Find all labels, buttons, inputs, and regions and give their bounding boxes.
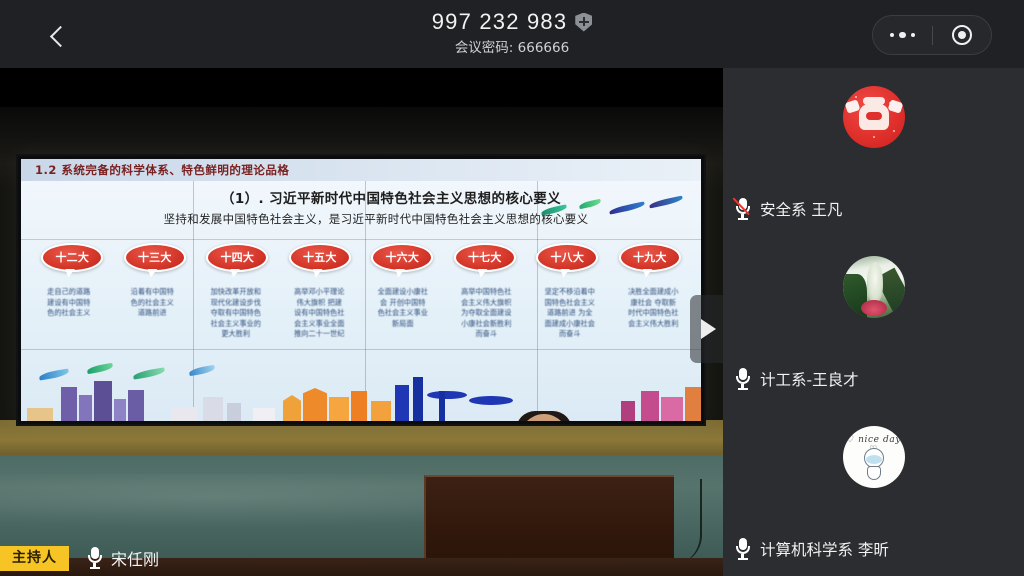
host-name-text: 宋任刚 xyxy=(111,546,159,570)
congress-badge: 十四大 xyxy=(206,243,268,272)
lectern-podium xyxy=(424,475,674,565)
participant-tile[interactable]: ♡ nice day ♡ 计算机科学系 李昕 xyxy=(723,408,1024,576)
participant-tile[interactable]: 计工系-王良才 xyxy=(723,238,1024,408)
slide-section-header-text: 1.2 系统完备的科学体系、特色鲜明的理论品格 xyxy=(21,162,289,178)
projection-screen: 1.2 系统完备的科学体系、特色鲜明的理论品格 （1）. 习近平新时代中国特色社… xyxy=(16,154,706,426)
congress-badge: 十七大 xyxy=(454,243,516,272)
congress-badge: 十三大 xyxy=(124,243,186,272)
miniprogram-capsule xyxy=(872,15,992,55)
meeting-app-root: 997 232 983 会议密码: 666666 xyxy=(0,0,1024,576)
congress-badge-label: 十八大 xyxy=(550,249,584,265)
decorative-birds xyxy=(537,193,687,223)
shield-plus-icon xyxy=(575,13,592,32)
participant-name: 安全系 王凡 xyxy=(760,198,842,220)
congress-badge-label: 十七大 xyxy=(468,249,502,265)
chevron-left-icon xyxy=(50,25,71,46)
congress-caption-row: 走自己的道路建设有中国特色的社会主义 沿着有中国特色的社会主义道路前进 加快改革… xyxy=(21,287,701,349)
participant-name: 计算机科学系 李昕 xyxy=(760,538,889,560)
congress-badge: 十八大 xyxy=(536,243,598,272)
mic-muted-icon xyxy=(735,198,750,220)
target-circle-icon xyxy=(952,25,972,45)
wave-decorations xyxy=(21,361,701,387)
nice-day-avatar: ♡ nice day ♡ xyxy=(843,426,905,488)
red-mascot-avatar xyxy=(843,86,905,148)
congress-caption: 决胜全面建成小康社会 夺取新时代中国特色社会主义伟大胜利 xyxy=(612,287,696,349)
classroom-video-frame: 1.2 系统完备的科学体系、特色鲜明的理论品格 （1）. 习近平新时代中国特色社… xyxy=(0,107,723,576)
main-video-stage[interactable]: 1.2 系统完备的科学体系、特色鲜明的理论品格 （1）. 习近平新时代中国特色社… xyxy=(0,68,723,576)
meeting-title-block: 997 232 983 会议密码: 666666 xyxy=(0,8,1024,57)
play-triangle-icon xyxy=(701,319,716,339)
congress-caption: 高举中国特色社会主义伟大旗帜为夺取全面建设小康社会新胜利而奋斗 xyxy=(445,287,529,349)
participant-label: 安全系 王凡 xyxy=(735,198,842,220)
congress-badge-label: 十六大 xyxy=(385,249,419,265)
congress-badge-label: 十二大 xyxy=(55,249,89,265)
host-label-bar: 主持人 宋任刚 xyxy=(0,540,159,576)
host-badge: 主持人 xyxy=(0,546,69,571)
nature-photo-avatar xyxy=(843,256,905,318)
congress-badge: 十六大 xyxy=(371,243,433,272)
congress-badge-label: 十九大 xyxy=(633,249,667,265)
participant-label: 计工系-王良才 xyxy=(735,368,859,390)
participant-label: 计算机科学系 李昕 xyxy=(735,538,889,560)
congress-badge-row: 十二大 十三大 十四大 十五大 十六大 十七大 十八大 十九大 xyxy=(21,239,701,275)
congress-badge: 十五大 xyxy=(289,243,351,272)
play-button[interactable] xyxy=(690,295,723,363)
meeting-password: 会议密码: 666666 xyxy=(0,39,1024,57)
congress-caption: 高举邓小平理论伟大旗帜 把建设有中国特色社会主义事业全面推向二十一世纪 xyxy=(278,287,362,349)
congress-badge: 十二大 xyxy=(41,243,103,272)
participant-name: 计工系-王良才 xyxy=(760,368,859,390)
congress-badge: 十九大 xyxy=(619,243,681,272)
slide-section-header: 1.2 系统完备的科学体系、特色鲜明的理论品格 xyxy=(21,159,701,181)
close-miniprogram-button[interactable] xyxy=(933,25,992,45)
top-navigation-bar: 997 232 983 会议密码: 666666 xyxy=(0,0,1024,68)
participant-sidebar[interactable]: 安全系 王凡 计工系-王良才 ♡ nice day ♡ xyxy=(723,68,1024,576)
congress-caption: 加快改革开放和现代化建设步伐夺取有中国特色社会主义事业的更大胜利 xyxy=(194,287,278,349)
congress-caption: 坚定不移沿着中国特色社会主义道路前进 为全面建成小康社会而奋斗 xyxy=(528,287,612,349)
host-name-row: 宋任刚 xyxy=(69,546,159,570)
presentation-slide: 1.2 系统完备的科学体系、特色鲜明的理论品格 （1）. 习近平新时代中国特色社… xyxy=(21,159,701,421)
mic-on-icon xyxy=(87,547,102,569)
congress-badge-label: 十三大 xyxy=(138,249,172,265)
presenter-person xyxy=(476,414,616,421)
mic-on-icon xyxy=(735,538,750,560)
more-menu-button[interactable] xyxy=(873,32,932,39)
more-dots-icon xyxy=(890,32,915,39)
skyline-illustration xyxy=(21,361,701,421)
congress-caption: 全面建设小康社会 开创中国特色社会主义事业新局面 xyxy=(361,287,445,349)
congress-badge-label: 十五大 xyxy=(303,249,337,265)
congress-caption: 走自己的道路建设有中国特色的社会主义 xyxy=(27,287,111,349)
back-button[interactable] xyxy=(38,16,78,56)
meeting-id-row: 997 232 983 xyxy=(432,8,593,36)
participant-tile[interactable]: 安全系 王凡 xyxy=(723,68,1024,238)
meeting-id: 997 232 983 xyxy=(432,8,568,36)
mic-on-icon xyxy=(735,368,750,390)
congress-caption: 沿着有中国特色的社会主义道路前进 xyxy=(111,287,195,349)
congress-badge-label: 十四大 xyxy=(220,249,254,265)
